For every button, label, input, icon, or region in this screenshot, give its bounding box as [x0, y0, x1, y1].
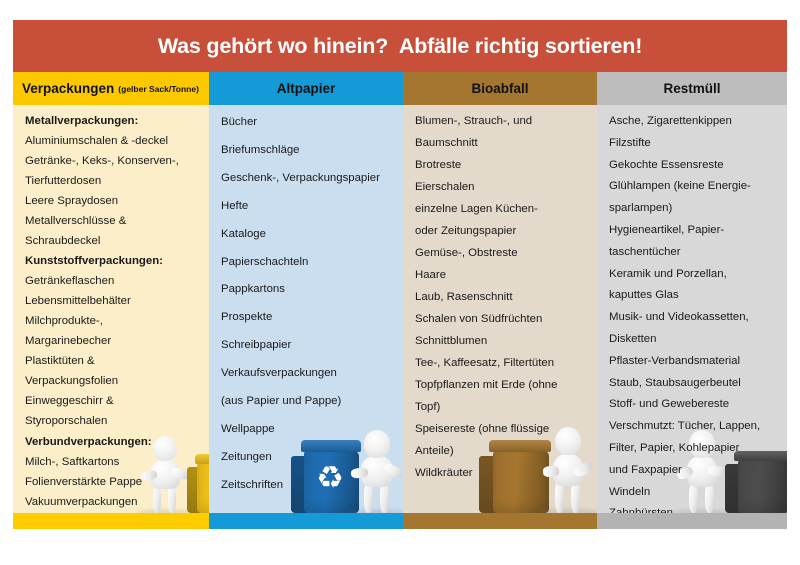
item-group-heading: Kunststoffverpackungen: [25, 256, 201, 267]
list-item: Windeln [609, 487, 779, 498]
column-header-bioabfall: Bioabfall [403, 72, 597, 105]
list-item: Topfpflanzen mit Erde (ohne [415, 380, 589, 391]
column-footer-verpackungen [13, 513, 209, 529]
list-item: Schraubdeckel [25, 236, 201, 247]
list-item: Staub, Staubsaugerbeutel [609, 378, 779, 389]
list-item: Lebensmittelbehälter [25, 296, 201, 307]
list-item: Topf) [415, 402, 589, 413]
column-bioabfall: BioabfallBlumen-, Strauch-, undBaumschni… [403, 72, 597, 545]
list-item: Kataloge [221, 229, 395, 240]
list-item: Stoff- und Gewebereste [609, 399, 779, 410]
column-header-verpackungen: Verpackungen(gelber Sack/Tonne) [13, 72, 209, 105]
column-title: Verpackungen [22, 81, 114, 96]
item-list: BücherBriefumschlägeGeschenk-, Verpackun… [209, 105, 403, 491]
list-item: Folienverstärkte Pappe [25, 477, 201, 488]
list-item: Tierfutterdosen [25, 176, 201, 187]
list-item: Bücher [221, 117, 395, 128]
list-item: taschentücher [609, 247, 779, 258]
list-item: Schnittblumen [415, 336, 589, 347]
list-item: Tee-, Kaffeesatz, Filtertüten [415, 358, 589, 369]
list-item: Prospekte [221, 312, 395, 323]
list-item: Haare [415, 270, 589, 281]
list-item: Verpackungsfolien [25, 376, 201, 387]
list-item: Aluminiumschalen & -deckel [25, 136, 201, 147]
column-body-verpackungen: ♻Metallverpackungen:Aluminiumschalen & -… [13, 105, 209, 529]
column-title: Altpapier [277, 81, 336, 96]
list-item: Hefte [221, 201, 395, 212]
list-item: Verschmutzt: Tücher, Lappen, [609, 421, 779, 432]
list-item: Zeitungen [221, 452, 395, 463]
list-item: Getränke-, Keks-, Konserven-, [25, 156, 201, 167]
list-item: Baumschnitt [415, 138, 589, 149]
list-item: Geschenk-, Verpackungspapier [221, 173, 395, 184]
list-item: Briefumschläge [221, 145, 395, 156]
title-bar: Was gehört wo hinein? Abfälle richtig so… [13, 20, 787, 72]
list-item: Eierschalen [415, 182, 589, 193]
column-header-restmuell: Restmüll [597, 72, 787, 105]
page-title: Was gehört wo hinein? Abfälle richtig so… [158, 34, 642, 59]
figure-leg [555, 480, 564, 513]
list-item: Blumen-, Strauch-, und [415, 116, 589, 127]
column-title: Bioabfall [471, 81, 528, 96]
poster: Was gehört wo hinein? Abfälle richtig so… [13, 20, 787, 545]
list-item: Disketten [609, 334, 779, 345]
list-item: und Faxpapier [609, 465, 779, 476]
list-item: Schreibpapier [221, 340, 395, 351]
list-item: Speisereste (ohne flüssige [415, 424, 589, 435]
list-item: Gemüse-, Obstreste [415, 248, 589, 259]
item-list: Metallverpackungen:Aluminiumschalen & -d… [13, 105, 209, 528]
list-item: Pflaster-Verbandsmaterial [609, 356, 779, 367]
list-item: Leere Spraydosen [25, 196, 201, 207]
list-item: Papierschachteln [221, 257, 395, 268]
list-item: Milch-, Saftkartons [25, 457, 201, 468]
list-item: Vakuumverpackungen [25, 497, 201, 508]
column-subtitle: (gelber Sack/Tonne) [118, 84, 199, 94]
list-item: kaputtes Glas [609, 290, 779, 301]
list-item: Asche, Zigarettenkippen [609, 116, 779, 127]
item-group-heading: Verbundverpackungen: [25, 437, 201, 448]
item-list: Blumen-, Strauch-, undBaumschnittBrotres… [403, 105, 597, 479]
list-item: Gekochte Essensreste [609, 160, 779, 171]
item-list: Asche, ZigarettenkippenFilzstifteGekocht… [597, 105, 787, 520]
figure-leg [571, 480, 580, 513]
list-item: Brotreste [415, 160, 589, 171]
column-header-altpapier: Altpapier [209, 72, 403, 105]
list-item: einzelne Lagen Küchen- [415, 204, 589, 215]
column-footer-altpapier [209, 513, 403, 529]
column-restmuell: RestmüllAsche, ZigarettenkippenFilzstift… [597, 72, 787, 545]
list-item: Wellpappe [221, 424, 395, 435]
list-item: Keramik und Porzellan, [609, 269, 779, 280]
list-item: Pappkartons [221, 284, 395, 295]
list-item: (aus Papier und Pappe) [221, 396, 395, 407]
list-item: Metallverschlüsse & [25, 216, 201, 227]
list-item: Schalen von Südfrüchten [415, 314, 589, 325]
column-footer-bioabfall [403, 513, 597, 529]
column-footer-restmuell [597, 513, 787, 529]
list-item: Filzstifte [609, 138, 779, 149]
list-item: Anteile) [415, 446, 589, 457]
list-item: Filter, Papier, Kohlepapier [609, 443, 779, 454]
list-item: Verkaufsverpackungen [221, 368, 395, 379]
list-item: Zeitschriften [221, 480, 395, 491]
column-body-bioabfall: Blumen-, Strauch-, undBaumschnittBrotres… [403, 105, 597, 529]
list-item: Hygieneartikel, Papier- [609, 225, 779, 236]
column-title: Restmüll [663, 81, 720, 96]
list-item: Laub, Rasenschnitt [415, 292, 589, 303]
list-item: Getränkeflaschen [25, 276, 201, 287]
item-group-heading: Metallverpackungen: [25, 116, 201, 127]
list-item: Plastiktüten & [25, 356, 201, 367]
column-body-restmuell: Asche, ZigarettenkippenFilzstifteGekocht… [597, 105, 787, 529]
list-item: Musik- und Videokassetten, [609, 312, 779, 323]
list-item: Glühlampen (keine Energie- [609, 181, 779, 192]
list-item: Margarinebecher [25, 336, 201, 347]
list-item: Styroporschalen [25, 416, 201, 427]
list-item: oder Zeitungspapier [415, 226, 589, 237]
list-item: Milchprodukte-, [25, 316, 201, 327]
column-verpackungen: Verpackungen(gelber Sack/Tonne)♻Metallve… [13, 72, 209, 545]
column-altpapier: Altpapier♻BücherBriefumschlägeGeschenk-,… [209, 72, 403, 545]
list-item: sparlampen) [609, 203, 779, 214]
waste-category-columns: Verpackungen(gelber Sack/Tonne)♻Metallve… [13, 72, 787, 545]
column-body-altpapier: ♻BücherBriefumschlägeGeschenk-, Verpacku… [209, 105, 403, 529]
list-item: Einweggeschirr & [25, 396, 201, 407]
list-item: Wildkräuter [415, 468, 589, 479]
